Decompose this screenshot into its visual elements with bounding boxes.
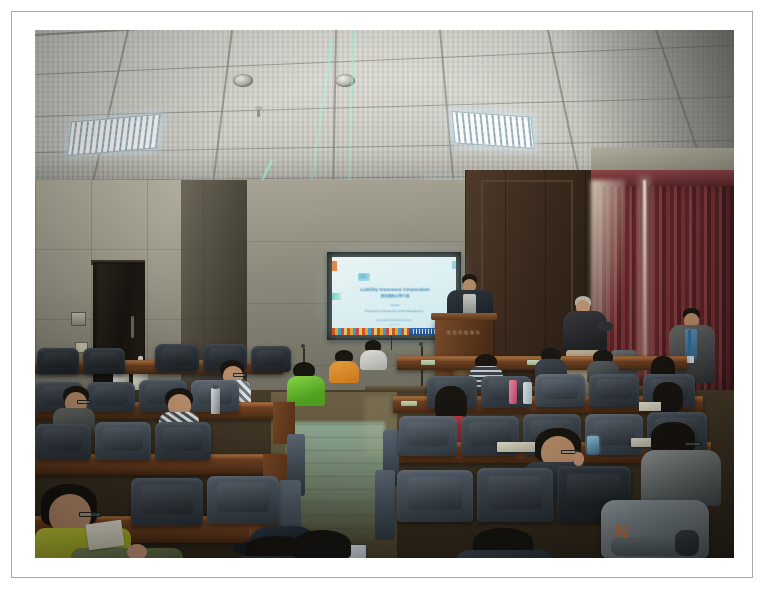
seat[interactable] — [589, 374, 639, 407]
podium-front-text: 欢迎莅临指导 — [441, 330, 487, 336]
photo-frame: EPSON — [0, 0, 764, 589]
lanyard — [688, 330, 691, 356]
seat[interactable] — [155, 344, 199, 371]
grey-coat — [641, 450, 721, 506]
glasses — [685, 442, 701, 446]
screen-cable — [391, 336, 392, 350]
thermos-flask — [211, 388, 220, 414]
backpack: N — [601, 500, 709, 558]
door-handle[interactable] — [131, 316, 134, 338]
seat[interactable] — [535, 374, 585, 407]
curtain-light-gap — [643, 180, 646, 370]
seat[interactable] — [207, 476, 279, 524]
handout-paper — [639, 402, 661, 411]
seat[interactable] — [87, 382, 135, 412]
glasses — [233, 373, 246, 377]
wall-control-box[interactable] — [71, 312, 86, 326]
glasses — [79, 512, 101, 517]
seat[interactable] — [83, 348, 125, 374]
long-hair — [435, 386, 467, 420]
blue-shirt — [685, 329, 697, 359]
seat[interactable] — [35, 424, 91, 460]
taskbar-app-icons[interactable] — [332, 328, 409, 335]
seat[interactable] — [37, 348, 79, 374]
slide-right-color-bar — [452, 261, 456, 269]
seat[interactable] — [397, 470, 473, 522]
ceiling-light-troffer — [451, 111, 534, 149]
hand — [127, 544, 147, 558]
slide-title-line-2: 责任保险公司介绍 — [342, 294, 448, 299]
seat-side-panel — [375, 470, 395, 540]
slide-subtitle-label: Speaker — [342, 304, 448, 307]
window-daylight-glow — [591, 180, 625, 330]
slide-logo-icon — [358, 273, 370, 281]
lecture-hall-photo: EPSON — [35, 30, 734, 558]
dark-jacket — [455, 550, 555, 558]
microphone-head — [419, 342, 423, 346]
recessed-downlight — [233, 74, 253, 87]
seat[interactable] — [131, 478, 203, 526]
backpack-logo: N — [615, 522, 628, 544]
clear-water-bottle — [523, 382, 532, 404]
sprinkler-head-icon — [257, 108, 260, 117]
seat[interactable] — [155, 422, 211, 460]
arm-on-hip — [597, 322, 613, 331]
seat[interactable] — [251, 346, 291, 372]
dark-sweater — [563, 311, 607, 355]
backpack-strap — [675, 530, 699, 556]
slide-footer-line-2: April 2018 — [340, 324, 448, 326]
seat[interactable] — [95, 422, 151, 460]
white-top — [360, 350, 387, 370]
seat[interactable] — [477, 468, 553, 522]
glasses — [77, 400, 91, 404]
desk-name-card — [401, 401, 417, 406]
slide-side-swatch — [332, 293, 341, 300]
desk-name-card — [421, 360, 435, 365]
spiral-notebook — [497, 442, 539, 452]
seat[interactable] — [399, 416, 457, 456]
slide-title-line-1: Liability Insurance Corporation — [342, 287, 448, 292]
pink-water-bottle — [509, 380, 517, 404]
microphone-head — [301, 344, 305, 348]
orange-shirt — [329, 361, 359, 383]
smartphone[interactable] — [587, 436, 599, 454]
podium-top-surface — [431, 313, 497, 320]
slide-left-color-bar — [332, 261, 337, 271]
handout-paper — [85, 520, 124, 551]
hand — [573, 452, 584, 466]
hair — [293, 530, 351, 558]
